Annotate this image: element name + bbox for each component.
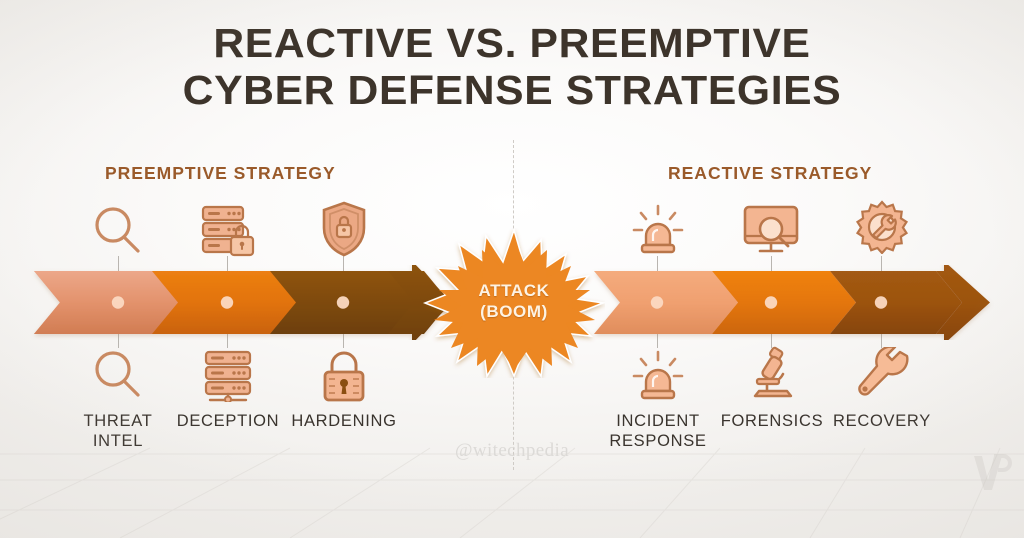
icon-magnifier-top-left [89, 204, 147, 256]
label-hardening: HARDENING [280, 411, 408, 431]
title-line-2: CYBER DEFENSE STRATEGIES [0, 67, 1024, 114]
icon-wrench-bottom-right [853, 347, 909, 401]
icon-server-rack-bottom-left [198, 350, 258, 402]
brand-logo [968, 450, 1012, 494]
icon-gear-wrench-top-right [855, 200, 909, 254]
icon-shield-lock-top-left [320, 200, 368, 258]
icon-siren-top-right [630, 202, 686, 256]
icon-monitor-search-top-right [740, 203, 802, 257]
infographic-canvas: REACTIVE VS. PREEMPTIVE CYBER DEFENSE ST… [0, 0, 1024, 538]
label-forensics: FORENSICS [710, 411, 834, 431]
burst-line-1: ATTACK [423, 280, 605, 301]
burst-label: ATTACK (BOOM) [423, 280, 605, 322]
label-deception: DECEPTION [165, 411, 291, 431]
burst-line-2: (BOOM) [423, 301, 605, 322]
icon-microscope-bottom-right [745, 346, 801, 402]
icon-padlock-bottom-left [319, 348, 369, 402]
section-header-preemptive: PREEMPTIVE STRATEGY [105, 163, 336, 184]
watermark: @witechpedia [0, 440, 1024, 462]
attack-burst: ATTACK (BOOM) [423, 228, 605, 378]
icon-magnifier-bottom-left [89, 348, 147, 400]
label-recovery: RECOVERY [822, 411, 942, 431]
icon-siren-bottom-right [630, 348, 686, 402]
page-title: REACTIVE VS. PREEMPTIVE CYBER DEFENSE ST… [0, 20, 1024, 114]
section-header-reactive: REACTIVE STRATEGY [668, 163, 872, 184]
icon-server-lock-top-left [198, 203, 258, 259]
title-line-1: REACTIVE VS. PREEMPTIVE [0, 20, 1024, 67]
